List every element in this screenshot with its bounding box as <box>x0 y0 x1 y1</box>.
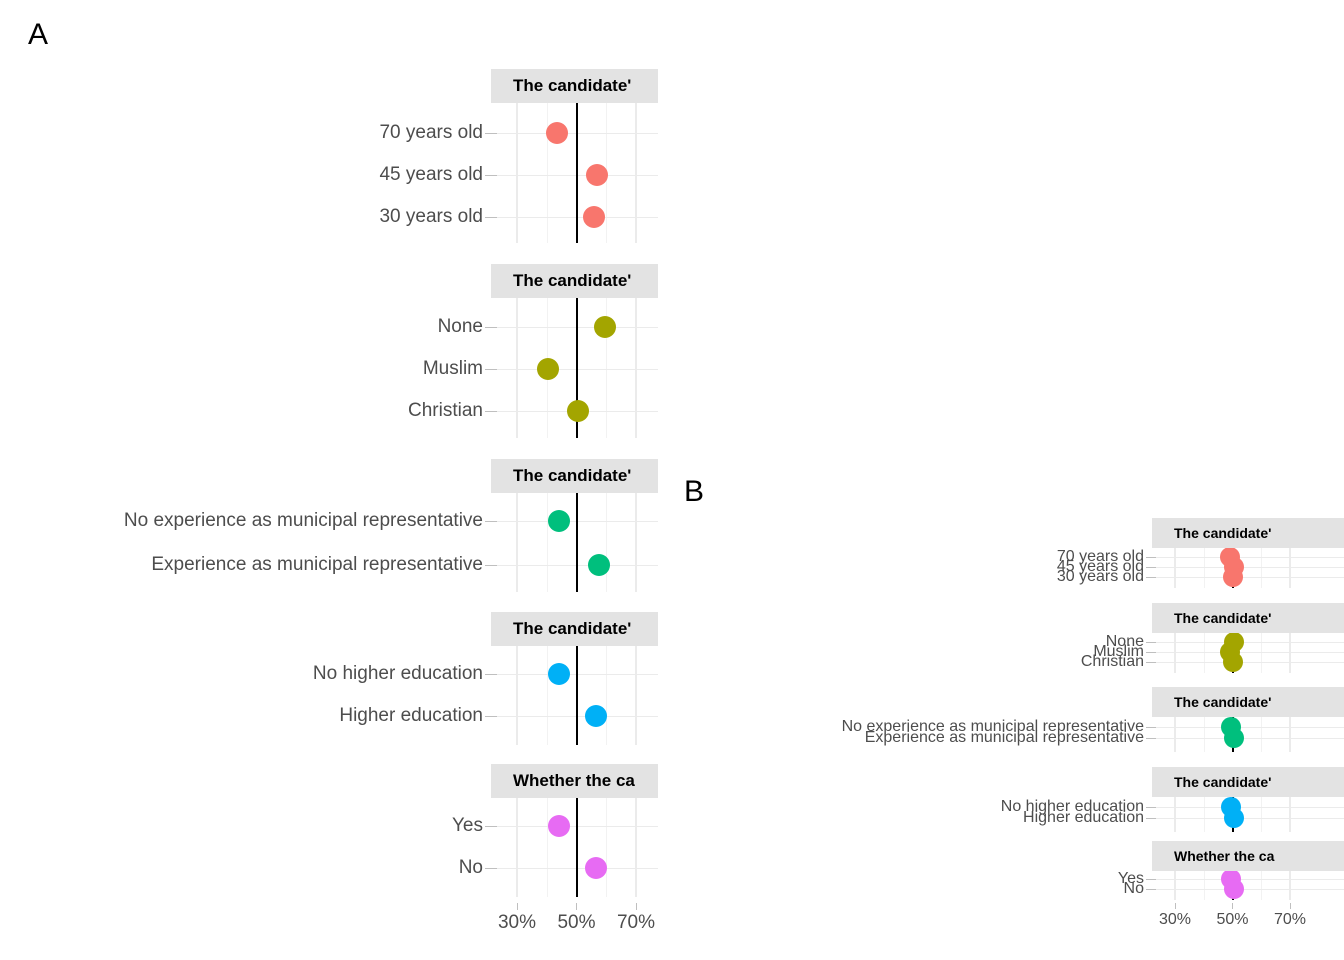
x-gridline-minor <box>1261 871 1262 900</box>
axis-tick-mark <box>1146 557 1156 558</box>
axis-tick-mark <box>1146 879 1156 880</box>
x-gridline <box>1289 871 1291 900</box>
y-gridline <box>1152 889 1344 890</box>
y-gridline <box>491 369 658 370</box>
data-point[interactable] <box>1224 728 1244 748</box>
facet-strip: The candidate' <box>1152 518 1344 548</box>
facet-strip: Whether the ca <box>491 764 658 798</box>
x-gridline-minor <box>1204 871 1205 900</box>
data-point[interactable] <box>583 206 605 228</box>
x-gridline-minor <box>547 798 548 897</box>
data-point[interactable] <box>1224 879 1244 899</box>
axis-tick-mark <box>485 175 497 176</box>
x-axis-label: 50% <box>1216 911 1248 929</box>
category-label: Muslim <box>423 358 483 380</box>
x-axis-label: 70% <box>617 912 655 934</box>
y-gridline <box>1152 662 1344 663</box>
facet-plot-area <box>1152 871 1344 900</box>
facet-strip-label: The candidate' <box>491 76 631 96</box>
data-point[interactable] <box>1224 808 1244 828</box>
y-gridline <box>491 133 658 134</box>
x-gridline <box>1289 633 1291 673</box>
x-axis-tick <box>1175 903 1176 909</box>
y-gridline <box>491 565 658 566</box>
y-gridline <box>1152 567 1344 568</box>
category-label: 45 years old <box>379 164 483 186</box>
reference-line <box>576 493 578 592</box>
axis-tick-mark <box>485 565 497 566</box>
axis-tick-mark <box>1146 577 1156 578</box>
reference-line <box>576 646 578 745</box>
facet-strip-label: The candidate' <box>491 271 631 291</box>
data-point[interactable] <box>548 663 570 685</box>
data-point[interactable] <box>548 510 570 532</box>
y-gridline <box>1152 652 1344 653</box>
y-gridline <box>491 826 658 827</box>
facet-strip-label: The candidate' <box>1152 694 1271 710</box>
x-gridline-minor <box>606 493 607 592</box>
x-gridline <box>1289 548 1291 588</box>
axis-tick-mark <box>485 327 497 328</box>
y-gridline <box>491 175 658 176</box>
x-gridline <box>1174 797 1176 832</box>
facet-strip: The candidate' <box>1152 603 1344 633</box>
x-gridline-minor <box>1261 797 1262 832</box>
facet-plot-area <box>1152 797 1344 832</box>
x-axis-label: 70% <box>1274 911 1306 929</box>
x-gridline-minor <box>547 646 548 745</box>
facet-plot-area <box>491 103 658 243</box>
y-gridline <box>491 674 658 675</box>
x-axis-label: 50% <box>557 912 595 934</box>
x-gridline-minor <box>1204 633 1205 673</box>
facet-strip-label: The candidate' <box>1152 774 1271 790</box>
facet-strip: The candidate' <box>1152 767 1344 797</box>
x-axis-tick <box>636 903 637 910</box>
x-gridline <box>516 298 518 438</box>
x-gridline <box>516 103 518 243</box>
facet-plot-area <box>491 646 658 745</box>
y-gridline <box>491 868 658 869</box>
axis-tick-mark <box>1146 807 1156 808</box>
x-axis-tick <box>1290 903 1291 909</box>
data-point[interactable] <box>586 164 608 186</box>
facet-strip: Whether the ca <box>1152 841 1344 871</box>
x-gridline <box>1174 717 1176 752</box>
facet-plot-area <box>1152 633 1344 673</box>
x-gridline-minor <box>1261 633 1262 673</box>
category-label: 30 years old <box>379 206 483 228</box>
axis-tick-mark <box>485 521 497 522</box>
x-gridline <box>635 798 637 897</box>
data-point[interactable] <box>1223 567 1243 587</box>
panel-letter-a: A <box>28 20 48 50</box>
category-label: No <box>1124 880 1144 898</box>
x-gridline <box>516 798 518 897</box>
category-label: Experience as municipal representative <box>151 554 483 576</box>
x-axis-label: 30% <box>498 912 536 934</box>
x-axis-tick <box>576 903 577 910</box>
x-gridline-minor <box>1204 797 1205 832</box>
category-label: None <box>438 316 483 338</box>
facet-strip-label: The candidate' <box>1152 525 1271 541</box>
x-gridline <box>1174 548 1176 588</box>
data-point[interactable] <box>548 815 570 837</box>
axis-tick-mark <box>485 133 497 134</box>
facet-plot-area <box>1152 717 1344 752</box>
axis-tick-mark <box>1146 727 1156 728</box>
category-label: 70 years old <box>379 122 483 144</box>
y-gridline <box>491 327 658 328</box>
y-gridline <box>491 217 658 218</box>
category-label: No <box>459 857 483 879</box>
data-point[interactable] <box>594 316 616 338</box>
data-point[interactable] <box>588 554 610 576</box>
category-label: Christian <box>408 400 483 422</box>
data-point[interactable] <box>1223 652 1243 672</box>
x-gridline <box>1289 797 1291 832</box>
data-point[interactable] <box>567 400 589 422</box>
y-gridline <box>1152 879 1344 880</box>
category-label: Higher education <box>339 705 483 727</box>
facet-plot-area <box>491 798 658 897</box>
facet-strip-label: The candidate' <box>491 619 631 639</box>
axis-tick-mark <box>1146 642 1156 643</box>
y-gridline <box>1152 818 1344 819</box>
facet-plot-area <box>1152 548 1344 588</box>
y-gridline <box>1152 577 1344 578</box>
x-gridline-minor <box>1204 717 1205 752</box>
category-label: Yes <box>452 815 483 837</box>
x-gridline-minor <box>606 798 607 897</box>
category-label: Experience as municipal representative <box>865 729 1144 747</box>
panel-letter-b: B <box>684 477 704 507</box>
x-gridline-minor <box>606 646 607 745</box>
x-gridline-minor <box>547 103 548 243</box>
axis-tick-mark <box>485 716 497 717</box>
x-axis-tick <box>517 903 518 910</box>
data-point[interactable] <box>585 857 607 879</box>
x-gridline <box>635 103 637 243</box>
axis-tick-mark <box>1146 818 1156 819</box>
facet-strip-label: Whether the ca <box>1152 848 1274 864</box>
x-gridline <box>1174 633 1176 673</box>
facet-strip: The candidate' <box>1152 687 1344 717</box>
category-label: Christian <box>1081 653 1144 671</box>
x-gridline <box>635 298 637 438</box>
y-gridline <box>1152 738 1344 739</box>
facet-strip: The candidate' <box>491 69 658 103</box>
facet-plot-area <box>491 493 658 592</box>
x-gridline <box>516 493 518 592</box>
axis-tick-mark <box>1146 738 1156 739</box>
facet-plot-area <box>491 298 658 438</box>
x-gridline <box>516 646 518 745</box>
y-gridline <box>1152 727 1344 728</box>
x-gridline <box>1289 717 1291 752</box>
axis-tick-mark <box>1146 567 1156 568</box>
x-axis-label: 30% <box>1159 911 1191 929</box>
x-gridline <box>635 493 637 592</box>
y-gridline <box>1152 557 1344 558</box>
facet-strip: The candidate' <box>491 612 658 646</box>
axis-tick-mark <box>485 369 497 370</box>
category-label: 30 years old <box>1057 568 1144 586</box>
data-point[interactable] <box>585 705 607 727</box>
x-gridline-minor <box>547 493 548 592</box>
axis-tick-mark <box>1146 662 1156 663</box>
data-point[interactable] <box>546 122 568 144</box>
category-label: No higher education <box>313 663 483 685</box>
category-label: No experience as municipal representativ… <box>124 510 483 532</box>
y-gridline <box>1152 642 1344 643</box>
facet-strip-label: Whether the ca <box>491 771 635 791</box>
x-gridline-minor <box>1261 548 1262 588</box>
x-gridline <box>635 646 637 745</box>
x-gridline-minor <box>1261 717 1262 752</box>
facet-strip: The candidate' <box>491 459 658 493</box>
reference-line <box>576 798 578 897</box>
figure-canvas: A The candidate'70 years old45 years old… <box>0 0 1344 960</box>
facet-strip-label: The candidate' <box>1152 610 1271 626</box>
y-gridline <box>491 716 658 717</box>
axis-tick-mark <box>1146 652 1156 653</box>
axis-tick-mark <box>485 674 497 675</box>
axis-tick-mark <box>485 868 497 869</box>
x-axis-tick <box>1232 903 1233 909</box>
y-gridline <box>1152 807 1344 808</box>
x-gridline-minor <box>1204 548 1205 588</box>
category-label: Higher education <box>1023 809 1144 827</box>
facet-strip: The candidate' <box>491 264 658 298</box>
y-gridline <box>491 521 658 522</box>
reference-line <box>576 103 578 243</box>
axis-tick-mark <box>1146 889 1156 890</box>
axis-tick-mark <box>485 411 497 412</box>
x-gridline <box>1174 871 1176 900</box>
axis-tick-mark <box>485 826 497 827</box>
facet-strip-label: The candidate' <box>491 466 631 486</box>
data-point[interactable] <box>537 358 559 380</box>
axis-tick-mark <box>485 217 497 218</box>
